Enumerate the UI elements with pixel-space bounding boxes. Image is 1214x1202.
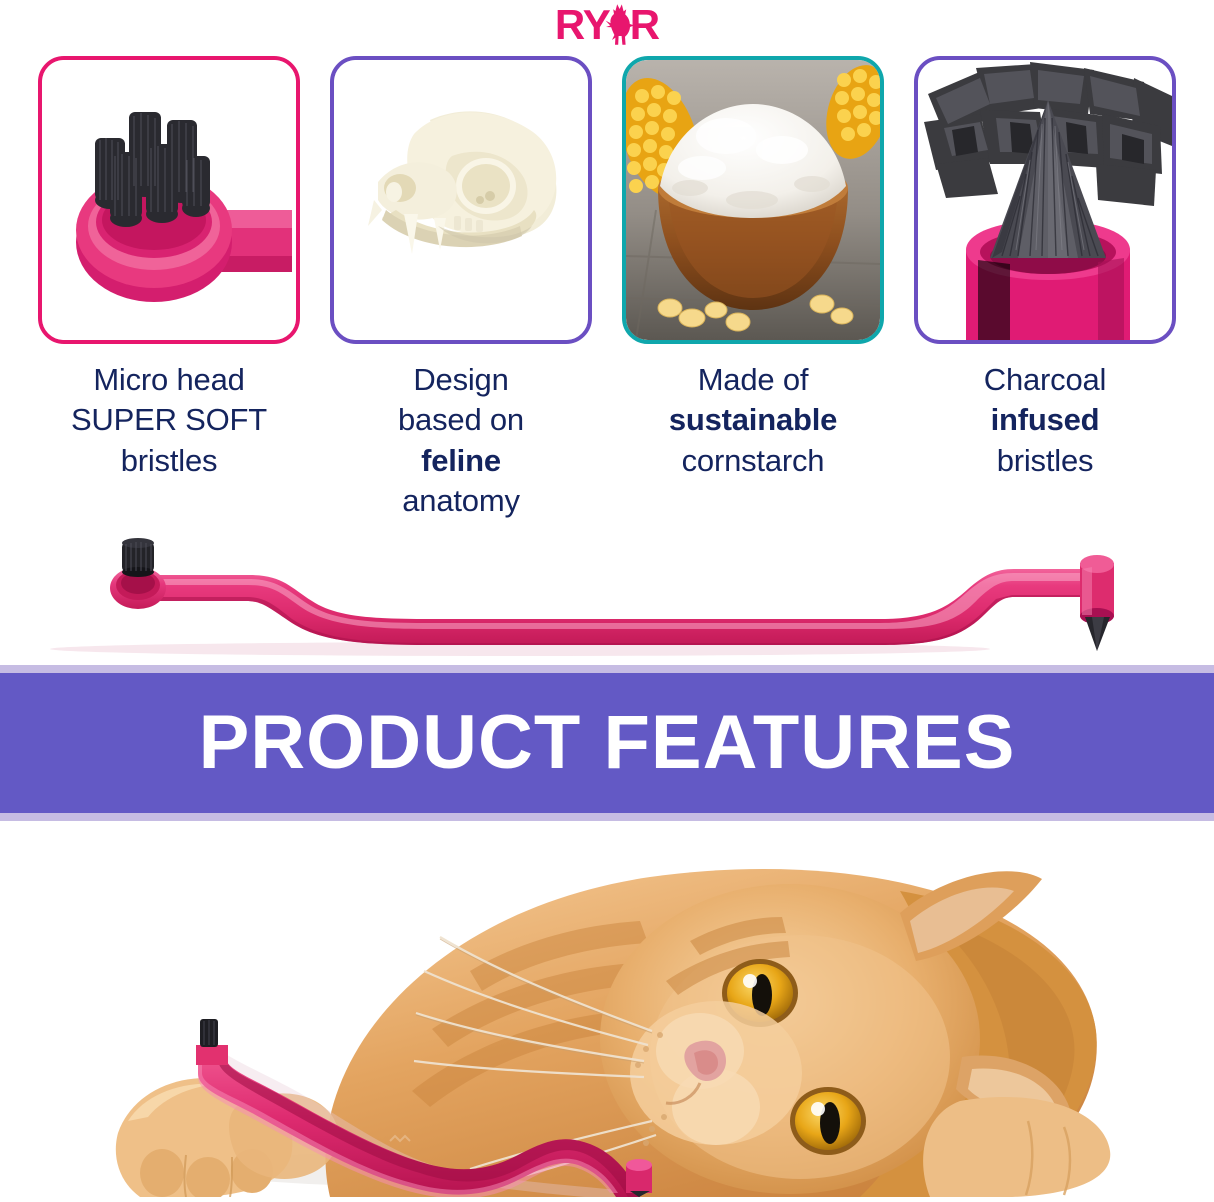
caption-line: Design [326, 360, 596, 400]
feature-card-frame [914, 56, 1176, 344]
caption-line: based on [326, 400, 596, 440]
feature-card-micro-head: Micro head SUPER SOFT bristles [30, 56, 308, 481]
ginger-cat-with-toothbrush-photo [0, 821, 1214, 1197]
feature-caption: Design based on feline anatomy [326, 360, 596, 521]
caption-line-bold: feline [421, 443, 501, 478]
caption-line-bold: infused [991, 402, 1100, 437]
feature-card-frame [330, 56, 592, 344]
feature-cards-row: Micro head SUPER SOFT bristles [0, 48, 1214, 521]
caption-line: cornstarch [618, 441, 888, 481]
feature-card-feline-anatomy: Design based on feline anatomy [322, 56, 600, 521]
caption-line: SUPER SOFT [34, 400, 304, 440]
feature-caption: Made of sustainable cornstarch [618, 360, 888, 481]
feature-card-charcoal: Charcoal infused bristles [906, 56, 1184, 481]
product-features-banner-wrap: PRODUCT FEATURES [0, 665, 1214, 821]
cornstarch-bowl-photo [626, 60, 880, 340]
caption-line: bristles [34, 441, 304, 481]
double-ended-cat-toothbrush-photo [0, 525, 1214, 665]
feature-caption: Micro head SUPER SOFT bristles [34, 360, 304, 481]
micro-brush-head-photo [42, 60, 296, 340]
feature-card-frame [38, 56, 300, 344]
product-features-banner: PRODUCT FEATURES [0, 673, 1214, 813]
caption-line: Charcoal [910, 360, 1180, 400]
brand-header: RY R [0, 0, 1214, 48]
feature-card-frame [622, 56, 884, 344]
cat-skull-photo [334, 60, 588, 340]
product-shot-region [0, 525, 1214, 665]
caption-line: Made of [618, 360, 888, 400]
caption-line: Micro head [34, 360, 304, 400]
feature-caption: Charcoal infused bristles [910, 360, 1180, 481]
logo-text-left: RY [555, 4, 610, 46]
feature-card-cornstarch: Made of sustainable cornstarch [614, 56, 892, 481]
banner-title: PRODUCT FEATURES [199, 705, 1016, 781]
caption-line-bold: sustainable [669, 402, 837, 437]
caption-line: anatomy [326, 481, 596, 521]
caption-line: bristles [910, 441, 1180, 481]
brand-logo: RY R [555, 3, 659, 47]
logo-text-right: R [630, 4, 659, 46]
charcoal-bristle-tip-photo [918, 60, 1172, 340]
hero-photo-region [0, 821, 1214, 1197]
